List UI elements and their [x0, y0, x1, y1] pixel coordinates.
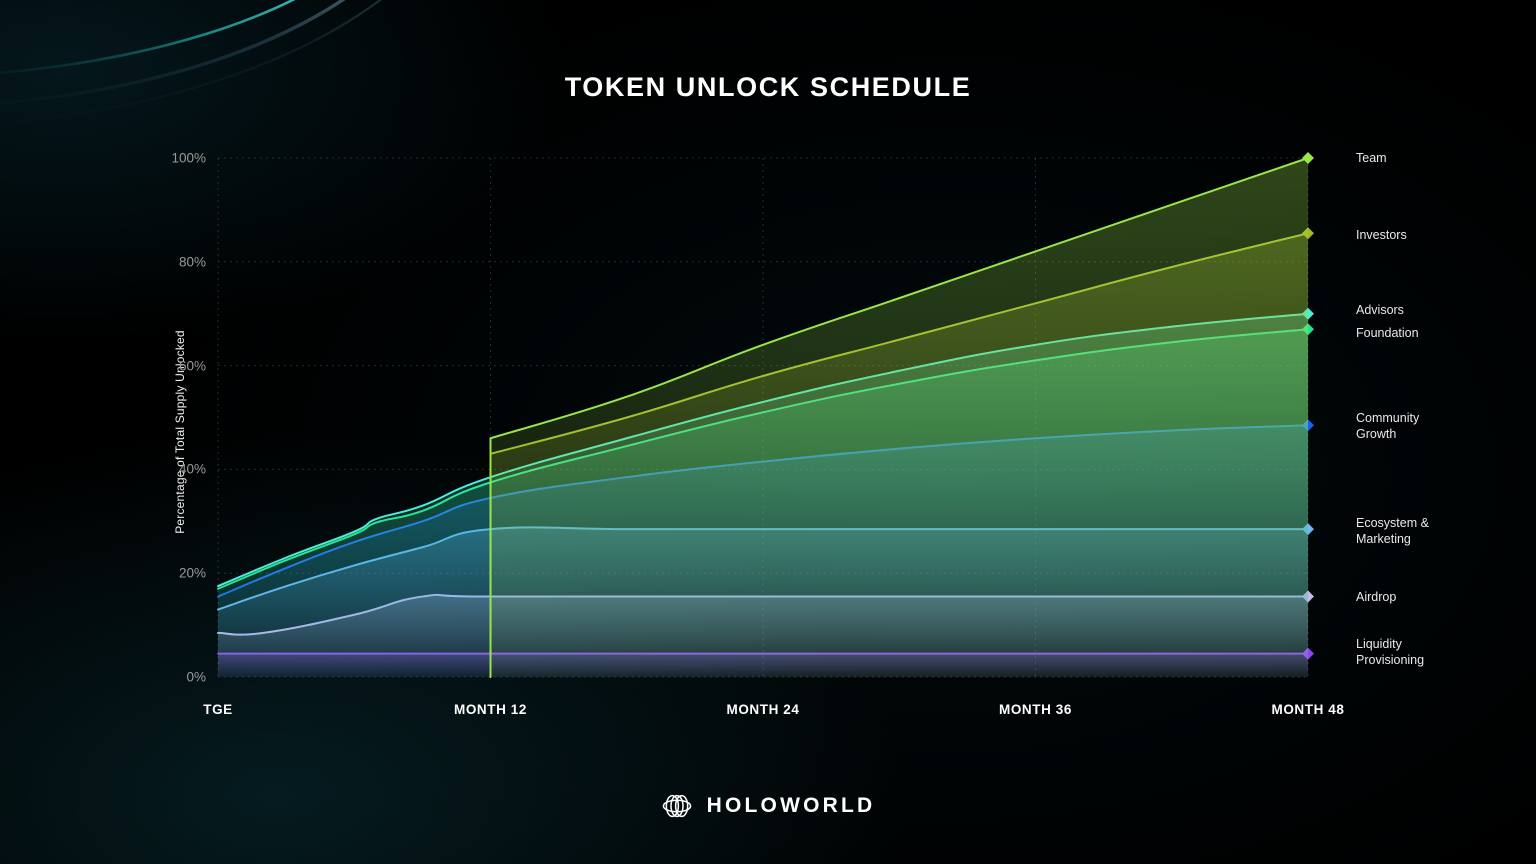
legend-item-airdrop[interactable]: Airdrop	[1356, 589, 1531, 605]
y-tick-40: 40%	[142, 462, 206, 477]
series-area	[491, 233, 1309, 677]
series-community-growth	[218, 419, 1314, 677]
y-tick-60: 60%	[142, 358, 206, 373]
x-tick-month-12: MONTH 12	[454, 702, 527, 717]
brand-lockup: HOLOWORLD	[0, 790, 1536, 822]
series-investors	[491, 227, 1315, 677]
brand-name: HOLOWORLD	[707, 794, 876, 818]
line-chart-plot	[0, 0, 1536, 864]
x-tick-month-48: MONTH 48	[1271, 702, 1344, 717]
series-line	[218, 314, 1308, 586]
page-title: TOKEN UNLOCK SCHEDULE	[0, 72, 1536, 103]
series-area	[218, 595, 1308, 677]
series-team	[491, 152, 1315, 677]
series-foundation	[218, 323, 1314, 677]
holoworld-globe-icon	[661, 790, 693, 822]
series-endpoint-marker	[1302, 523, 1314, 535]
series-endpoint-marker	[1302, 227, 1314, 239]
series-airdrop	[218, 591, 1314, 677]
series-area	[491, 158, 1309, 677]
series-line	[218, 595, 1308, 635]
legend-item-team[interactable]: Team	[1356, 150, 1531, 166]
y-tick-100: 100%	[142, 151, 206, 166]
y-tick-0: 0%	[142, 670, 206, 685]
series-endpoint-marker	[1302, 308, 1314, 320]
series-area	[218, 527, 1308, 677]
series-area	[218, 654, 1308, 677]
series-area	[218, 425, 1308, 677]
y-tick-80: 80%	[142, 254, 206, 269]
series-endpoint-marker	[1302, 152, 1314, 164]
top-left-arc-decoration	[0, 0, 520, 140]
series-area	[218, 314, 1308, 677]
series-area	[218, 329, 1308, 677]
series-endpoint-marker	[1302, 648, 1314, 660]
series-endpoint-marker	[1302, 591, 1314, 603]
legend-item-community-growth[interactable]: Community Growth	[1356, 410, 1531, 442]
series-ecosystem-and-marketing	[218, 523, 1314, 677]
x-tick-tge: TGE	[203, 702, 233, 717]
y-tick-20: 20%	[142, 566, 206, 581]
grid-lines	[218, 158, 1308, 677]
y-axis-ticks: 0%20%40%60%80%100%	[86, 0, 206, 864]
background-glow	[0, 0, 1536, 864]
series-line	[218, 527, 1308, 609]
series-endpoint-marker	[1302, 419, 1314, 431]
x-axis-ticks: TGEMONTH 12MONTH 24MONTH 36MONTH 48	[0, 702, 1536, 732]
legend-item-ecosystem-and-marketing[interactable]: Ecosystem & Marketing	[1356, 515, 1531, 547]
legend-item-liquidity-provisioning[interactable]: Liquidity Provisioning	[1356, 636, 1531, 668]
chart-legend: TeamInvestorsAdvisorsFoundationCommunity…	[1356, 0, 1536, 864]
series-advisors	[218, 308, 1314, 677]
x-tick-month-24: MONTH 24	[726, 702, 799, 717]
series-endpoint-marker	[1302, 323, 1314, 335]
x-tick-month-36: MONTH 36	[999, 702, 1072, 717]
series-line	[218, 329, 1308, 589]
series-line	[218, 425, 1308, 596]
series-line	[491, 158, 1309, 677]
series-line	[491, 233, 1309, 677]
legend-item-advisors[interactable]: Advisors	[1356, 302, 1531, 318]
legend-item-investors[interactable]: Investors	[1356, 227, 1531, 243]
series-liquidity-provisioning	[218, 648, 1314, 677]
legend-item-foundation[interactable]: Foundation	[1356, 325, 1531, 341]
